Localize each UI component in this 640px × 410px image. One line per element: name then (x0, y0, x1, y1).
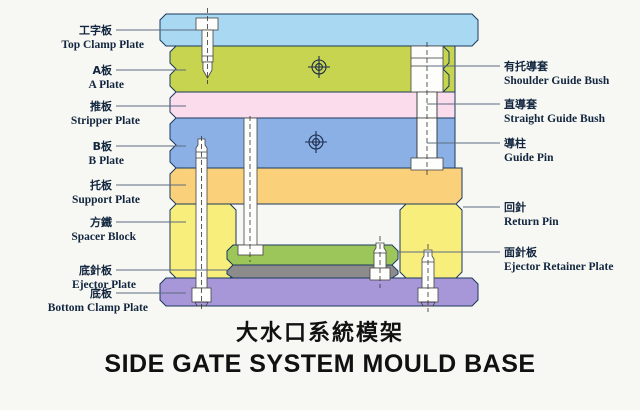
label-bottom-clamp-plate-cn: 底板 (90, 286, 113, 300)
diagram-canvas: 工字板 Top Clamp Plate A板 A Plate 推板 Stripp… (0, 0, 640, 410)
label-shoulder-guide-bush-cn: 有托導套 (504, 59, 549, 73)
label-ejector-retainer-plate-cn: 面針板 (504, 245, 538, 259)
label-stripper-plate-en: Stripper Plate (71, 115, 140, 127)
label-b-plate-en: B Plate (89, 155, 124, 167)
label-a-plate-en: A Plate (89, 79, 124, 91)
label-bottom-clamp-plate-en: Bottom Clamp Plate (48, 302, 148, 314)
label-a-plate-cn: A板 (92, 63, 113, 77)
title-chinese: 大水口系統模架 (236, 320, 404, 346)
label-support-plate-cn: 托板 (90, 178, 113, 192)
label-spacer-block-cn: 方鐵 (90, 215, 112, 229)
label-shoulder-guide-bush-en: Shoulder Guide Bush (504, 75, 610, 87)
support-plate (170, 168, 462, 204)
label-straight-guide-bush-en: Straight Guide Bush (504, 113, 606, 125)
label-support-plate-en: Support Plate (72, 194, 140, 206)
label-return-pin-cn: 回針 (504, 200, 526, 214)
center-ejector-rod (244, 118, 257, 253)
center-ejector-rod-head (238, 245, 263, 255)
label-straight-guide-bush-cn: 直導套 (504, 97, 538, 111)
stripper-plate (170, 92, 455, 118)
mould-base-diagram: 工字板 Top Clamp Plate A板 A Plate 推板 Stripp… (0, 0, 640, 410)
label-ejector-plate-cn: 底針板 (79, 263, 113, 277)
label-b-plate-cn: B板 (93, 139, 113, 153)
label-guide-pin-en: Guide Pin (504, 152, 554, 164)
label-guide-pin-cn: 導柱 (504, 136, 526, 150)
title-english: SIDE GATE SYSTEM MOULD BASE (104, 350, 535, 378)
label-top-clamp-plate-en: Top Clamp Plate (61, 39, 144, 51)
label-spacer-block-en: Spacer Block (71, 231, 136, 243)
top-clamp-screw-head (196, 18, 218, 30)
label-ejector-retainer-plate-en: Ejector Retainer Plate (504, 261, 613, 273)
label-stripper-plate-cn: 推板 (90, 99, 113, 113)
label-top-clamp-plate-cn: 工字板 (79, 23, 113, 37)
label-return-pin-en: Return Pin (504, 216, 559, 228)
